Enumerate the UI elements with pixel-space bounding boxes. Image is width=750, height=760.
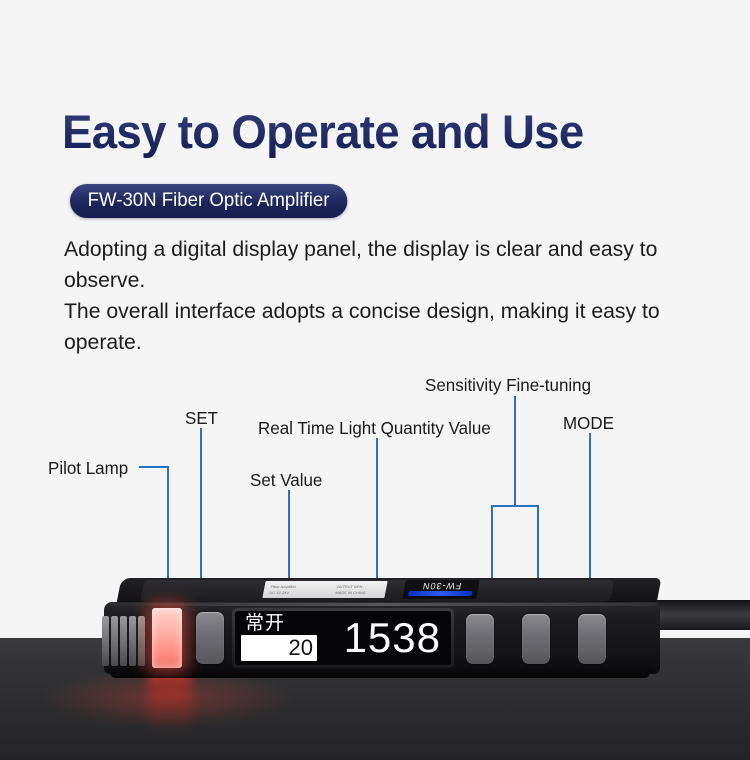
lcd-display-bezel: 常开 20 1538 bbox=[232, 608, 454, 668]
page-title: Easy to Operate and Use bbox=[62, 104, 584, 159]
device-front-highlight bbox=[108, 603, 656, 606]
callout-line-pilot-lamp-h bbox=[139, 466, 169, 468]
description-line-1: Adopting a digital display panel, the di… bbox=[64, 234, 694, 296]
callout-line-sensitivity-bracket bbox=[491, 505, 539, 507]
description-line-2: The overall interface adopts a concise d… bbox=[64, 296, 694, 358]
set-button[interactable] bbox=[196, 612, 224, 664]
fiber-fin bbox=[102, 616, 109, 666]
mode-button[interactable] bbox=[578, 614, 606, 664]
sticker-line-2: DC 12-24V bbox=[269, 591, 290, 595]
device-fiber-fins bbox=[102, 616, 146, 666]
callout-label-set: SET bbox=[185, 408, 218, 429]
callout-line-sensitivity-stem bbox=[514, 396, 516, 506]
lcd-light-quantity-value: 1538 bbox=[344, 612, 441, 664]
device-brand-label: FW-30N bbox=[408, 581, 476, 591]
device-spec-sticker: Fiber Amplifier DC 12-24V OUTPUT NPN MAD… bbox=[262, 581, 387, 598]
lcd-set-value: 20 bbox=[289, 636, 313, 660]
infographic-page: Easy to Operate and Use FW-30N Fiber Opt… bbox=[0, 0, 750, 760]
callout-label-sensitivity: Sensitivity Fine-tuning bbox=[425, 375, 591, 396]
pilot-lamp-indicator bbox=[152, 608, 182, 668]
callout-label-set-value: Set Value bbox=[250, 470, 322, 491]
fiber-fin bbox=[120, 616, 127, 666]
fiber-fin bbox=[111, 616, 118, 666]
down-button[interactable] bbox=[522, 614, 550, 664]
fiber-fin bbox=[129, 616, 136, 666]
lcd-screen: 常开 20 1538 bbox=[235, 611, 451, 665]
callout-label-real-time: Real Time Light Quantity Value bbox=[258, 418, 491, 439]
up-button[interactable] bbox=[466, 614, 494, 664]
callout-label-mode: MODE bbox=[563, 413, 614, 434]
product-badge: FW-30N Fiber Optic Amplifier bbox=[70, 184, 347, 218]
lcd-set-value-box: 20 bbox=[241, 635, 317, 661]
fiber-optic-amplifier-device: Fiber Amplifier DC 12-24V OUTPUT NPN MAD… bbox=[104, 578, 664, 688]
description-text: Adopting a digital display panel, the di… bbox=[64, 234, 694, 358]
sticker-line-4: MADE IN CHINA bbox=[335, 591, 366, 595]
device-brand-accent-bar bbox=[408, 591, 473, 596]
sticker-line-1: Fiber Amplifier bbox=[270, 585, 296, 589]
callout-label-pilot-lamp: Pilot Lamp bbox=[48, 458, 128, 479]
fiber-fin bbox=[138, 616, 145, 666]
lcd-mode-label: 常开 bbox=[245, 614, 285, 633]
sticker-line-3: OUTPUT NPN bbox=[336, 585, 363, 589]
device-brand-plate: FW-30N bbox=[402, 580, 480, 599]
